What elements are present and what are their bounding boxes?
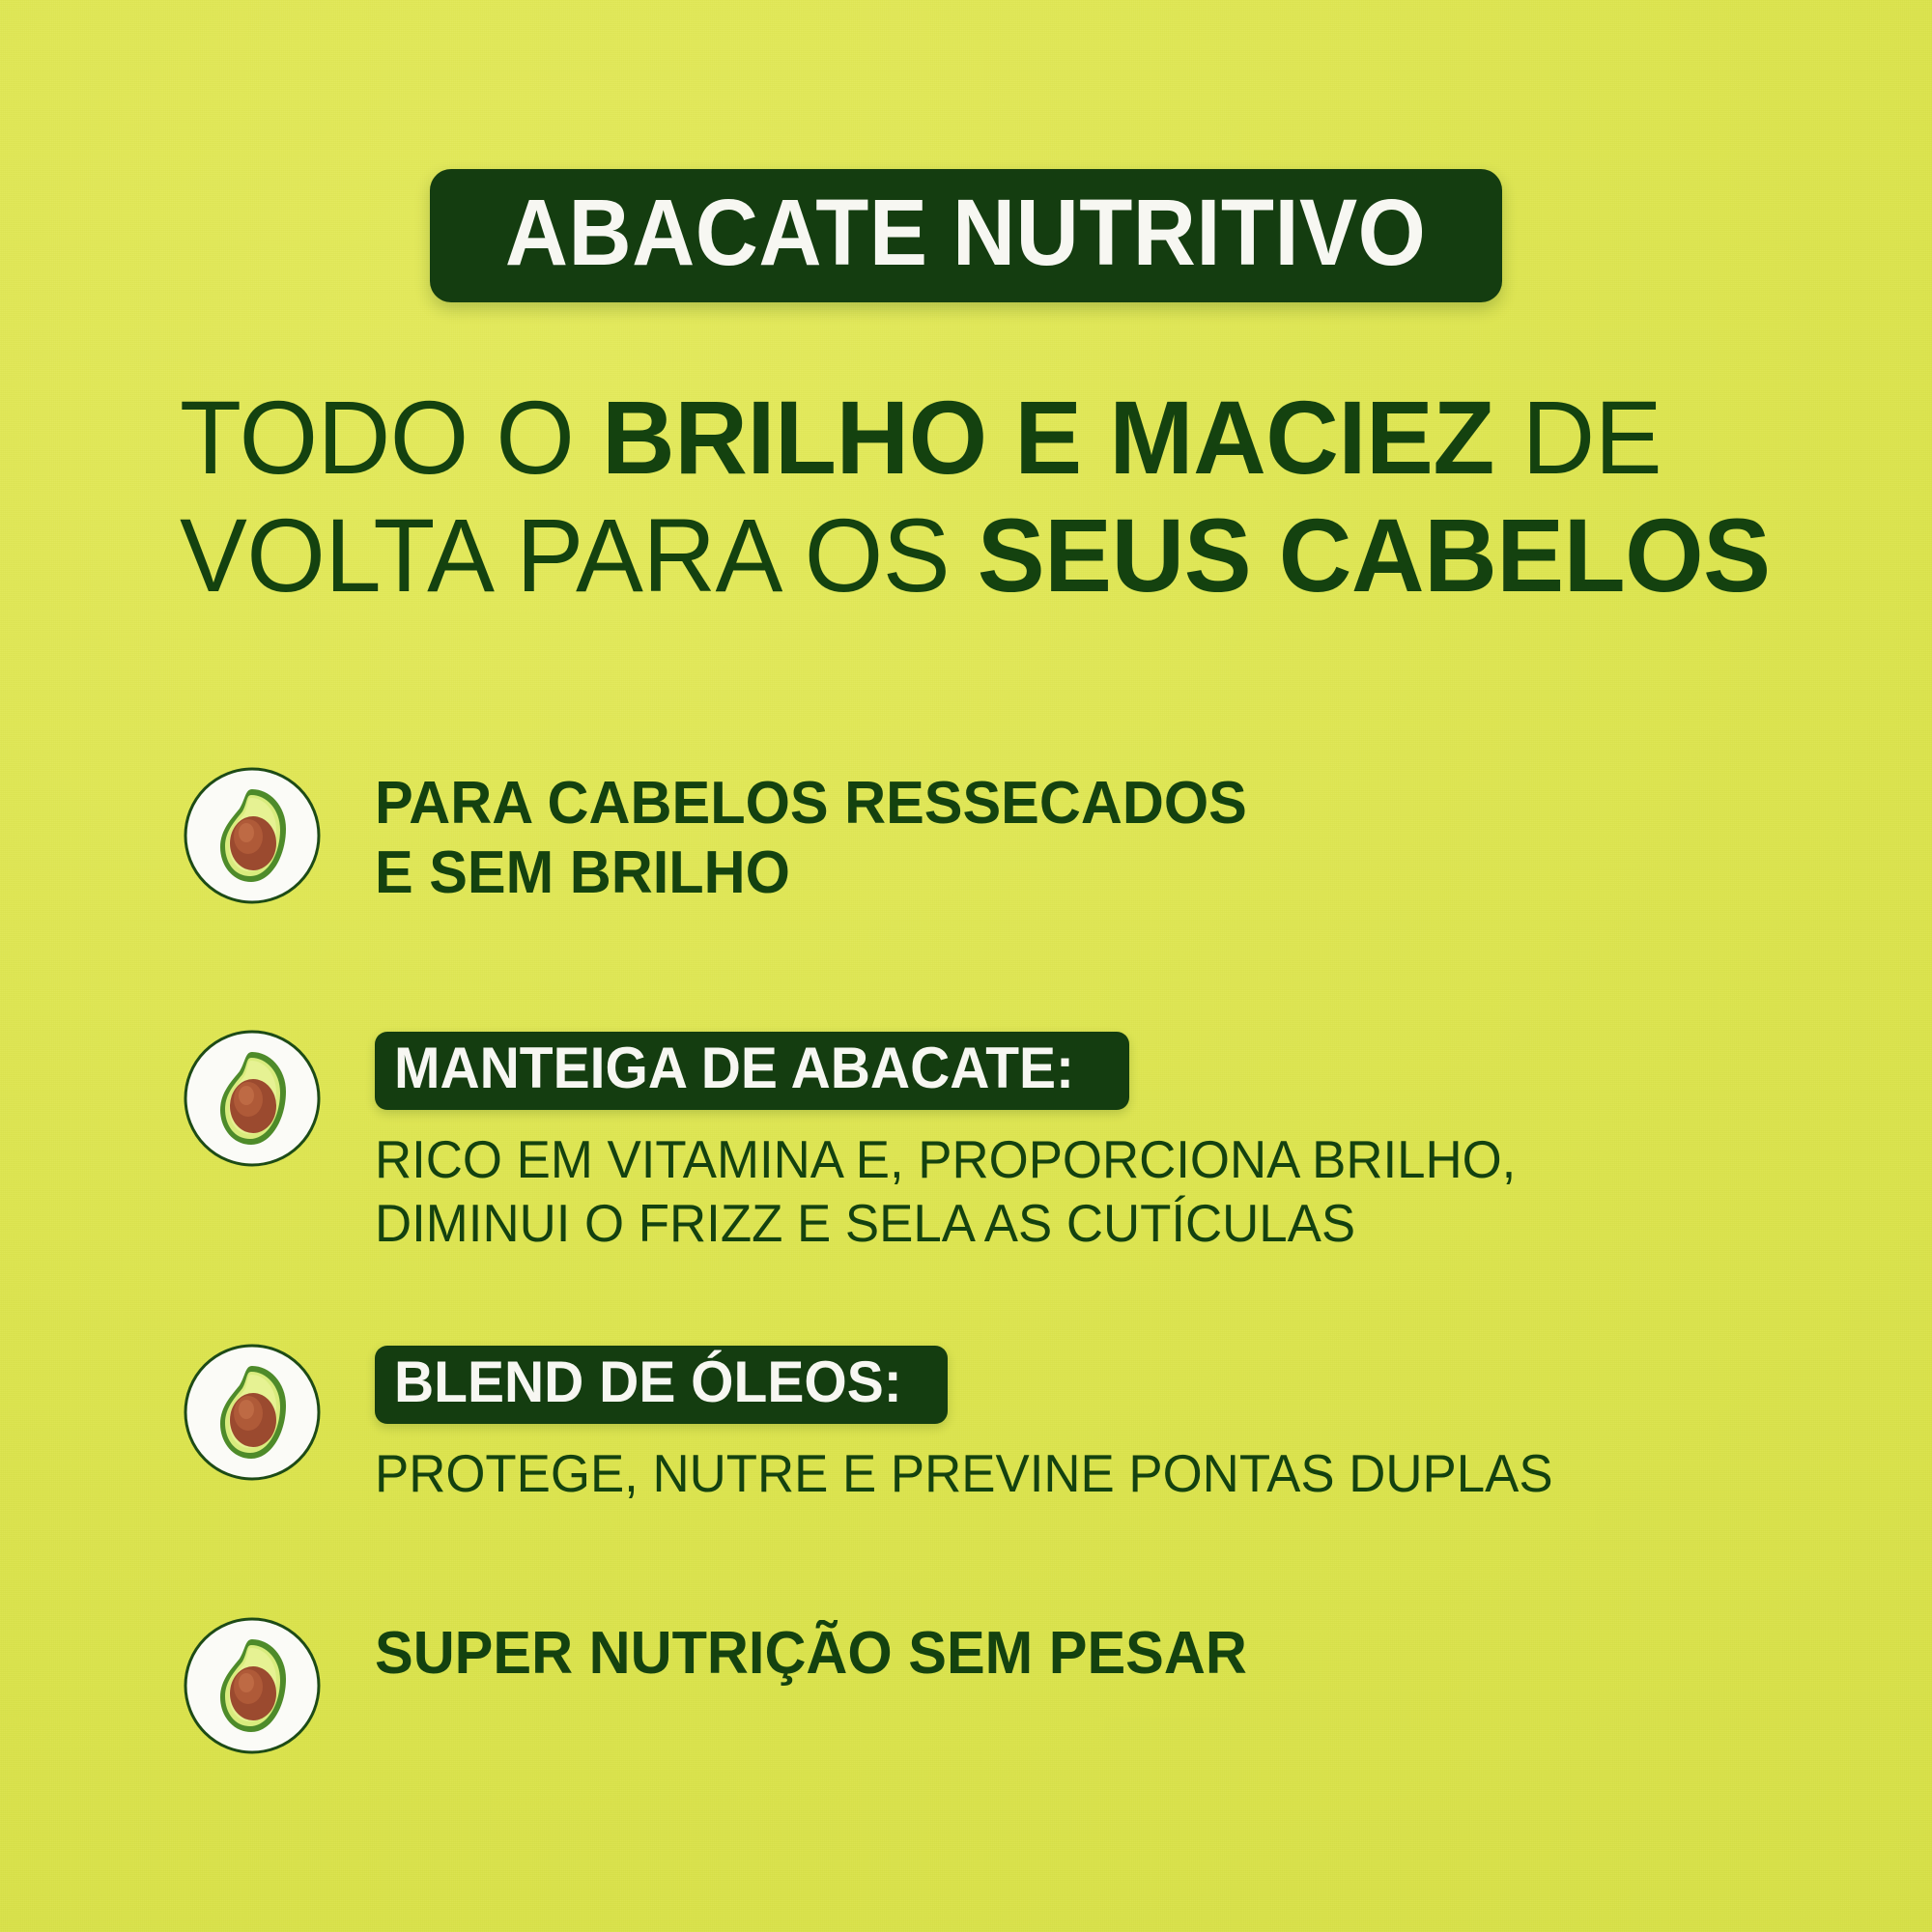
headline-line2-bold: SEUS CABELOS	[978, 497, 1771, 613]
headline-line1-plain-a: TODO O	[180, 379, 602, 496]
benefit-description: PROTEGE, NUTRE E PREVINE PONTAS DUPLAS	[375, 1441, 1801, 1505]
benefit-description: RICO EM VITAMINA E, PROPORCIONA BRILHO, …	[375, 1127, 1801, 1255]
list-item-body: BLEND DE ÓLEOS: PROTEGE, NUTRE E PREVINE…	[325, 1340, 1861, 1505]
headline-line-1: TODO O BRILHO E MACIEZ DE	[180, 379, 1773, 497]
list-item: BLEND DE ÓLEOS: PROTEGE, NUTRE E PREVINE…	[180, 1340, 1861, 1505]
benefit-title-line-1: SUPER NUTRIÇÃO SEM PESAR	[375, 1619, 1801, 1689]
benefit-description-line-1: RICO EM VITAMINA E, PROPORCIONA BRILHO,	[375, 1127, 1801, 1191]
avocado-icon-slot-4	[180, 1613, 325, 1758]
headline-line1-bold: BRILHO E MACIEZ	[602, 379, 1494, 496]
header-badge: ABACATE NUTRITIVO	[430, 169, 1501, 302]
list-item: MANTEIGA DE ABACATE: RICO EM VITAMINA E,…	[180, 1026, 1861, 1255]
header-area: ABACATE NUTRITIVO	[0, 169, 1932, 302]
list-item-body: PARA CABELOS RESSECADOS E SEM BRILHO	[325, 763, 1861, 908]
headline-line-2: VOLTA PARA OS SEUS CABELOS	[180, 497, 1773, 614]
list-item: SUPER NUTRIÇÃO SEM PESAR	[180, 1613, 1861, 1758]
headline-line2-plain: VOLTA PARA OS	[180, 497, 978, 613]
benefit-title: PARA CABELOS RESSECADOS E SEM BRILHO	[375, 769, 1801, 908]
headline-line1-plain-b: DE	[1494, 379, 1662, 496]
benefit-title-line-2: E SEM BRILHO	[375, 838, 1801, 908]
header-badge-label: ABACATE NUTRITIVO	[505, 188, 1426, 277]
avocado-icon	[180, 763, 325, 908]
benefit-description-line-1: PROTEGE, NUTRE E PREVINE PONTAS DUPLAS	[375, 1441, 1801, 1505]
benefit-title: SUPER NUTRIÇÃO SEM PESAR	[375, 1619, 1801, 1689]
list-item-body: MANTEIGA DE ABACATE: RICO EM VITAMINA E,…	[325, 1026, 1861, 1255]
avocado-icon	[180, 1613, 325, 1758]
headline: TODO O BRILHO E MACIEZ DE VOLTA PARA OS …	[180, 379, 1822, 614]
avocado-icon-slot-3	[180, 1340, 325, 1485]
avocado-icon-slot-2	[180, 1026, 325, 1171]
avocado-icon	[180, 1026, 325, 1171]
benefit-tag-badge: BLEND DE ÓLEOS:	[375, 1346, 948, 1424]
benefit-tag-badge: MANTEIGA DE ABACATE:	[375, 1032, 1129, 1110]
benefit-tag-label: MANTEIGA DE ABACATE:	[394, 1040, 1074, 1097]
list-item: PARA CABELOS RESSECADOS E SEM BRILHO	[180, 763, 1861, 908]
poster-canvas: ABACATE NUTRITIVO TODO O BRILHO E MACIEZ…	[0, 0, 1932, 1932]
avocado-icon	[180, 1340, 325, 1485]
benefit-tag-label: BLEND DE ÓLEOS:	[394, 1354, 902, 1411]
list-item-body: SUPER NUTRIÇÃO SEM PESAR	[325, 1613, 1861, 1689]
benefit-title-line-1: PARA CABELOS RESSECADOS	[375, 769, 1801, 838]
avocado-icon-slot-1	[180, 763, 325, 908]
benefit-description-line-2: DIMINUI O FRIZZ E SELA AS CUTÍCULAS	[375, 1191, 1801, 1255]
benefit-list: PARA CABELOS RESSECADOS E SEM BRILHO	[180, 763, 1861, 1758]
